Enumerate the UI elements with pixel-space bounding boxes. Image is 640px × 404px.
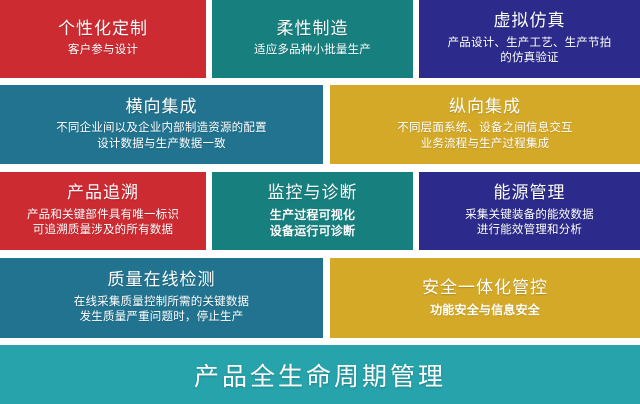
card-vertical-integration[interactable]: 纵向集成 不同层面系统、设备之间信息交互 业务流程与生产过程集成 [330,85,640,164]
card-title: 产品追溯 [67,183,139,203]
card-description: 产品和关键部件具有唯一标识 可追溯质量涉及的所有数据 [27,208,179,239]
card-title: 虚拟仿真 [494,11,566,31]
card-integrated-safety-control[interactable]: 安全一体化管控 功能安全与信息安全 [330,258,640,338]
card-energy-management[interactable]: 能源管理 采集关键装备的能效数据 进行能效管理和分析 [419,172,640,250]
card-description: 功能安全与信息安全 [430,302,540,318]
card-description: 采集关键装备的能效数据 进行能效管理和分析 [465,208,594,239]
card-title: 横向集成 [126,97,198,117]
manufacturing-capability-infographic: 个性化定制 客户参与设计 柔性制造 适应多品种小批量生产 虚拟仿真 产品设计、生… [0,0,640,404]
card-description: 不同企业间以及企业内部制造资源的配置 设计数据与生产数据一致 [56,121,267,152]
card-title: 安全一体化管控 [422,278,548,298]
card-description: 在线采集质量控制所需的关键数据 发生质量严重问题时，停止生产 [74,295,250,326]
card-flexible-manufacturing[interactable]: 柔性制造 适应多品种小批量生产 [212,0,413,78]
card-title: 个性化定制 [58,19,148,39]
card-description: 客户参与设计 [68,43,138,59]
card-virtual-simulation[interactable]: 虚拟仿真 产品设计、生产工艺、生产节拍 的仿真验证 [419,0,640,78]
card-title: 监控与诊断 [268,183,358,203]
card-personalized-customization[interactable]: 个性化定制 客户参与设计 [0,0,206,78]
card-description: 不同层面系统、设备之间信息交互 业务流程与生产过程集成 [397,121,573,152]
card-title: 柔性制造 [277,19,349,39]
footer-banner: 产品全生命周期管理 [0,345,640,404]
card-title: 能源管理 [494,183,566,203]
card-description: 适应多品种小批量生产 [254,43,371,59]
card-description: 产品设计、生产工艺、生产节拍 的仿真验证 [448,36,612,67]
card-title: 纵向集成 [449,97,521,117]
card-title: 质量在线检测 [108,270,216,290]
card-monitoring-diagnosis[interactable]: 监控与诊断 生产过程可视化 设备运行可诊断 [212,172,413,250]
card-product-traceability[interactable]: 产品追溯 产品和关键部件具有唯一标识 可追溯质量涉及的所有数据 [0,172,206,250]
card-description: 生产过程可视化 设备运行可诊断 [270,207,355,239]
card-horizontal-integration[interactable]: 横向集成 不同企业间以及企业内部制造资源的配置 设计数据与生产数据一致 [0,85,323,164]
footer-title: 产品全生命周期管理 [194,357,446,393]
card-quality-online-inspection[interactable]: 质量在线检测 在线采集质量控制所需的关键数据 发生质量严重问题时，停止生产 [0,258,323,338]
